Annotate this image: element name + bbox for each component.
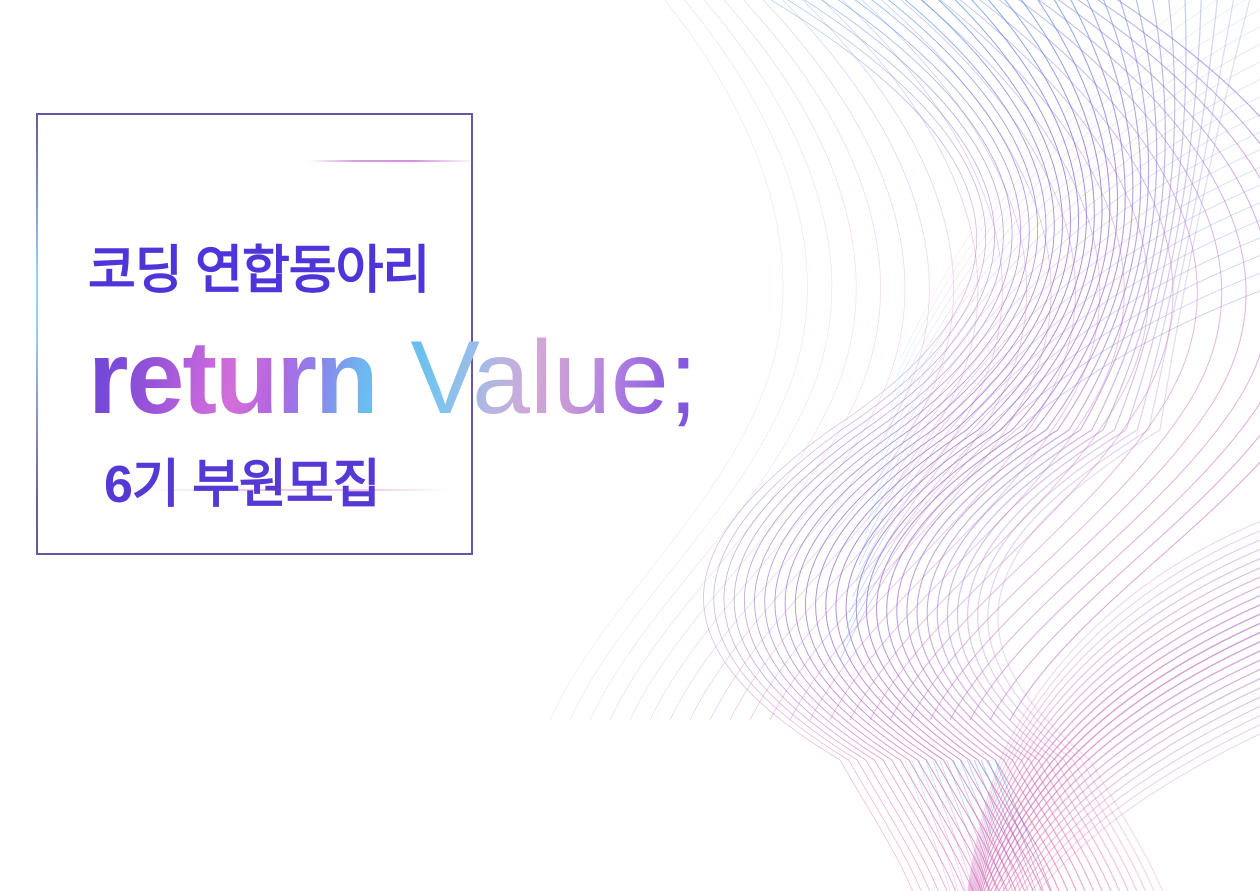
poster-canvas: 코딩 연합동아리 return Value; 6기 부원모집 — [0, 0, 1260, 891]
accent-divider-top — [308, 160, 476, 162]
headline-row: return Value; — [88, 326, 698, 444]
frame-left-gradient-edge — [36, 113, 38, 555]
club-tagline: 코딩 연합동아리 — [88, 245, 429, 297]
recruitment-subline: 6기 부원모집 — [104, 459, 380, 511]
headline-word-value: Value; — [410, 326, 697, 430]
headline-keyword-return: return — [88, 326, 376, 430]
